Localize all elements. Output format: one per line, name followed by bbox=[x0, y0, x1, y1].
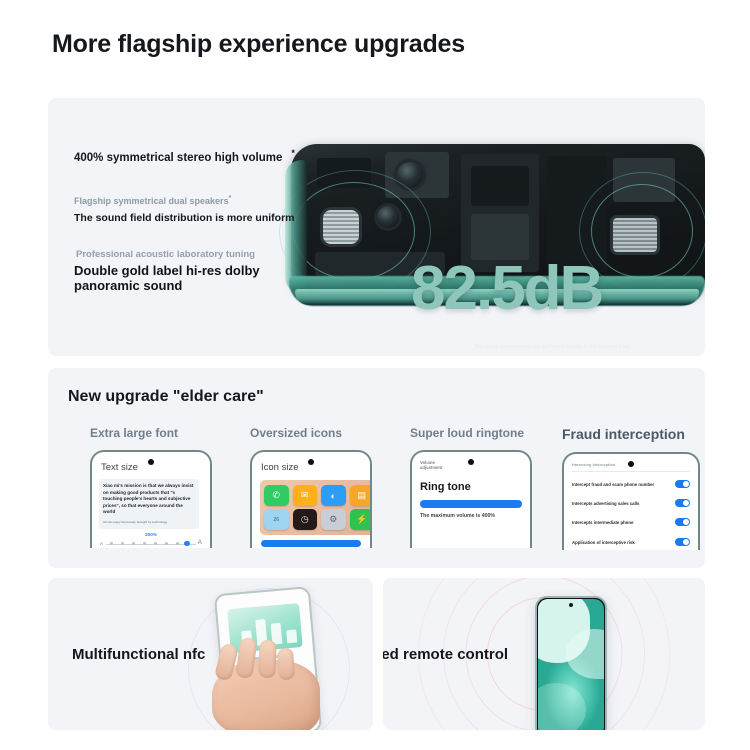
messages-app-icon[interactable]: ✉ bbox=[293, 485, 318, 506]
phone-mock-text-size: Text size Xiao mi's mission is that we a… bbox=[90, 450, 212, 548]
fraud-row-2[interactable]: Intercepts advertising sales calls bbox=[572, 497, 690, 509]
elder-column-icons: Oversized icons Icon size ✆✉◐▤26◷⚙⚡ bbox=[250, 426, 402, 548]
infrared-feature-card: Infrared remote control bbox=[383, 578, 705, 730]
fraud-row-3-label: Intercepts intermediate phone bbox=[572, 520, 633, 525]
fraud-row-3[interactable]: Intercepts intermediate phone bbox=[572, 516, 690, 528]
audio-tuning-label: Professional acoustic laboratory tuning bbox=[76, 249, 255, 260]
gallery-app-icon[interactable]: ▤ bbox=[350, 485, 373, 506]
fraud-toggle-4[interactable] bbox=[675, 538, 690, 546]
camera-dot-icon bbox=[569, 603, 573, 607]
audio-tuning-headline: Double gold label hi-res dolby panoramic… bbox=[74, 264, 294, 293]
audio-sub-label-text: Flagship symmetrical dual speakers bbox=[74, 196, 229, 206]
divider bbox=[572, 471, 690, 472]
camera-dot-icon bbox=[468, 459, 474, 465]
slider-tick bbox=[154, 542, 157, 545]
fraud-row-4-label: Application of interceptive risk bbox=[572, 540, 635, 545]
app-icon-grid: ✆✉◐▤26◷⚙⚡ bbox=[260, 480, 372, 535]
audio-feature-card: 400% symmetrical stereo high volume* Fla… bbox=[48, 98, 705, 356]
text-size-slider[interactable]: A A bbox=[100, 540, 202, 548]
fraud-row-1-label: Intercept fraud and scam phone number bbox=[572, 482, 654, 487]
infrared-phone-mock bbox=[535, 596, 607, 730]
elder-column-label-ringtone: Super loud ringtone bbox=[410, 426, 562, 440]
slider-tick bbox=[132, 542, 135, 545]
elder-care-columns: Extra large font Text size Xiao mi's mis… bbox=[68, 426, 705, 558]
elder-column-label-icons: Oversized icons bbox=[250, 426, 402, 440]
slider-large-a-label: A bbox=[198, 539, 202, 546]
phone-app-icon[interactable]: ✆ bbox=[264, 485, 289, 506]
audio-headline-text: 400% symmetrical stereo high volume bbox=[74, 152, 282, 164]
slider-tick bbox=[110, 542, 113, 545]
fraud-row-4[interactable]: Application of interceptive risk bbox=[572, 536, 690, 548]
weather-app-icon[interactable]: 26 bbox=[264, 509, 289, 530]
phone-mock-icon-size: Icon size ✆✉◐▤26◷⚙⚡ bbox=[250, 450, 372, 548]
ring-tone-note: The maximum volume is 400% bbox=[420, 513, 495, 519]
audio-sub-headline: The sound field distribution is more uni… bbox=[74, 212, 295, 224]
infrared-phone-wallpaper bbox=[538, 599, 604, 730]
slider-tick bbox=[176, 542, 179, 545]
audio-headline: 400% symmetrical stereo high volume* bbox=[74, 148, 295, 164]
icon-size-title: Icon size bbox=[261, 462, 299, 473]
hand-illustration bbox=[212, 660, 320, 730]
phone-mock-fraud: Harassing interception Intercept fraud a… bbox=[562, 452, 700, 550]
infrared-label: Infrared remote control bbox=[383, 646, 508, 663]
page-title: More flagship experience upgrades bbox=[52, 30, 465, 59]
slider-track bbox=[106, 544, 196, 545]
elder-column-ringtone: Super loud ringtone Volume adjustment Ri… bbox=[410, 426, 562, 548]
ring-tone-title: Ring tone bbox=[420, 481, 471, 493]
db-value: 82.5dB bbox=[411, 258, 602, 320]
text-size-paragraph: Xiao mi's mission is that we always insi… bbox=[103, 483, 195, 516]
booster-app-icon[interactable]: ⚡ bbox=[350, 509, 373, 530]
text-size-title: Text size bbox=[101, 462, 138, 473]
slider-small-a-label: A bbox=[100, 541, 103, 546]
product-feature-page: More flagship experience upgrades bbox=[0, 0, 750, 750]
text-size-preview: Xiao mi's mission is that we always insi… bbox=[99, 479, 199, 529]
elder-care-title: New upgrade "elder care" bbox=[68, 388, 264, 406]
slider-knob[interactable] bbox=[184, 541, 190, 547]
camera-dot-icon bbox=[148, 459, 154, 465]
icon-size-slider[interactable] bbox=[261, 540, 361, 547]
slider-tick bbox=[143, 542, 146, 545]
ring-tone-volume-slider[interactable] bbox=[420, 500, 522, 508]
slider-tick bbox=[121, 542, 124, 545]
footnote-marker-2: * bbox=[229, 195, 232, 202]
elder-column-fraud: Fraud interception Harassing interceptio… bbox=[562, 426, 705, 550]
fraud-row-2-label: Intercepts advertising sales calls bbox=[572, 501, 639, 506]
db-caption: The noisy environment can be heard clear… bbox=[456, 344, 648, 352]
audio-sub-label: Flagship symmetrical dual speakers* bbox=[74, 195, 231, 206]
text-size-percent: 200% bbox=[92, 532, 210, 537]
fraud-toggle-2[interactable] bbox=[675, 499, 690, 507]
fraud-toggle-3[interactable] bbox=[675, 518, 690, 526]
clock-app-icon[interactable]: ◷ bbox=[293, 509, 318, 530]
nfc-label: Multifunctional nfc bbox=[72, 646, 205, 663]
settings-app-icon[interactable]: ⚙ bbox=[321, 509, 346, 530]
slider-tick bbox=[165, 542, 168, 545]
harassing-interception-title: Harassing interception bbox=[572, 462, 615, 467]
phone-mock-ringtone: Volume adjustment Ring tone The maximum … bbox=[410, 450, 532, 548]
nfc-feature-card: Multifunctional nfc bbox=[48, 578, 373, 730]
camera-dot-icon bbox=[308, 459, 314, 465]
fraud-row-1[interactable]: Intercept fraud and scam phone number bbox=[572, 478, 690, 490]
volume-adjustment-label: Volume adjustment bbox=[420, 460, 442, 471]
footnote-marker: * bbox=[291, 148, 295, 158]
browser-app-icon[interactable]: ◐ bbox=[321, 485, 346, 506]
fraud-toggle-1[interactable] bbox=[675, 480, 690, 488]
elder-column-font: Extra large font Text size Xiao mi's mis… bbox=[90, 426, 242, 548]
camera-dot-icon bbox=[628, 461, 634, 467]
elder-care-card: New upgrade "elder care" Extra large fon… bbox=[48, 368, 705, 568]
elder-column-label-font: Extra large font bbox=[90, 426, 242, 440]
text-size-subtext: All can enjoy the beauty brought by tech… bbox=[103, 520, 195, 524]
elder-column-label-fraud: Fraud interception bbox=[562, 426, 705, 442]
